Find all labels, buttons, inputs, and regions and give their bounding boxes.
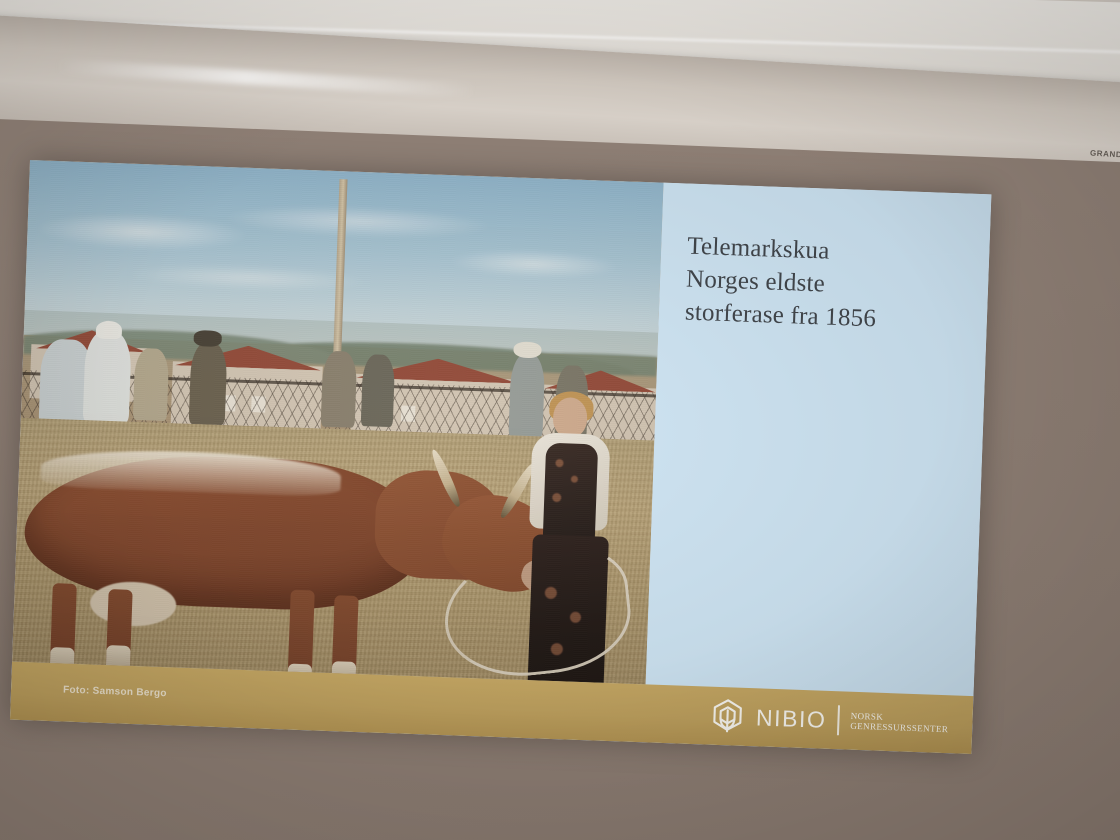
screen-brand-label: GRANDVIEW® [1090,148,1120,161]
photo-credit: Foto: Samson Bergo [63,685,167,700]
slide-canvas: Telemarkskua Norges eldste storferase fr… [10,160,991,754]
slide-title-panel: Telemarkskua Norges eldste storferase fr… [646,183,992,696]
slide-photo [12,160,664,684]
nibio-brand-lockup: NIBIO NORSK GENRESSURSSENTER [710,697,949,743]
slide-title: Telemarkskua Norges eldste storferase fr… [684,230,977,339]
brand-divider [837,705,840,735]
casing-highlight [57,59,477,98]
sub-brand: NORSK GENRESSURSSENTER [850,710,949,734]
photo-film-grain [12,160,664,684]
nibio-wordmark: NIBIO [755,704,827,734]
sub-brand-line-2: GENRESSURSSENTER [850,721,948,735]
projected-slide: Telemarkskua Norges eldste storferase fr… [10,160,991,754]
nibio-hexagon-leaf-icon [710,697,745,736]
screenshot-root: GRANDVIEW® [0,0,1120,840]
